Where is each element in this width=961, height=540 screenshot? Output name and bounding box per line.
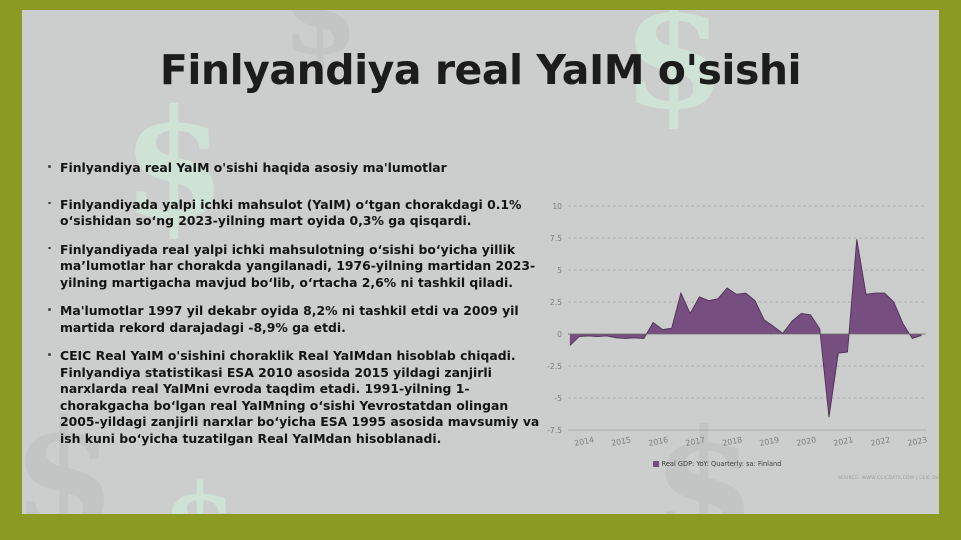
svg-text:10: 10 bbox=[552, 202, 562, 211]
svg-text:-7.5: -7.5 bbox=[547, 426, 562, 435]
legend-label: Real GDP: YoY: Quarterly: sa: Finland bbox=[662, 460, 782, 468]
svg-text:2022: 2022 bbox=[870, 435, 891, 448]
list-item: CEIC Real YaIM o'sishini choraklik Real … bbox=[46, 348, 546, 447]
svg-text:2018: 2018 bbox=[722, 435, 743, 448]
list-item: Finlyandiyada real yalpi ichki mahsulotn… bbox=[46, 242, 546, 292]
svg-text:2023: 2023 bbox=[907, 435, 928, 448]
svg-text:-5: -5 bbox=[554, 394, 562, 403]
list-item: Ma'lumotlar 1997 yil dekabr oyida 8,2% n… bbox=[46, 303, 546, 336]
legend-swatch-icon bbox=[653, 461, 659, 467]
svg-text:2014: 2014 bbox=[574, 435, 595, 448]
svg-text:2015: 2015 bbox=[611, 435, 632, 448]
watermark-glyph: $ bbox=[162, 470, 231, 514]
list-item: Finlyandiyada yalpi ichki mahsulot (YaIM… bbox=[46, 197, 546, 230]
slide-content-area: $ $ $ $ $ $ Finlyandiya real YaIM o'sish… bbox=[22, 10, 939, 514]
svg-text:2020: 2020 bbox=[796, 435, 817, 448]
chart-canvas: 107.552.50-2.5-5-7.520142015201620172018… bbox=[528, 192, 933, 487]
bullet-list: Finlyandiya real YaIM o'sishi haqida aso… bbox=[46, 160, 546, 459]
chart-legend: Real GDP: YoY: Quarterly: sa: Finland bbox=[528, 460, 906, 468]
slide-frame: $ $ $ $ $ $ Finlyandiya real YaIM o'sish… bbox=[0, 0, 961, 540]
svg-text:2019: 2019 bbox=[759, 435, 780, 448]
list-item: Finlyandiya real YaIM o'sishi haqida aso… bbox=[46, 160, 546, 177]
svg-text:2017: 2017 bbox=[685, 435, 706, 448]
svg-text:7.5: 7.5 bbox=[550, 234, 562, 243]
svg-text:0: 0 bbox=[557, 330, 562, 339]
chart-source-note: SOURCE: WWW.CEICDATA.COM | CEIC Data bbox=[764, 476, 939, 481]
svg-text:5: 5 bbox=[557, 266, 562, 275]
gdp-growth-chart: 107.552.50-2.5-5-7.520142015201620172018… bbox=[528, 192, 933, 487]
svg-text:-2.5: -2.5 bbox=[547, 362, 562, 371]
svg-text:2.5: 2.5 bbox=[550, 298, 562, 307]
svg-text:2021: 2021 bbox=[833, 435, 854, 448]
svg-text:2016: 2016 bbox=[648, 435, 669, 448]
page-title: Finlyandiya real YaIM o'sishi bbox=[22, 46, 939, 94]
